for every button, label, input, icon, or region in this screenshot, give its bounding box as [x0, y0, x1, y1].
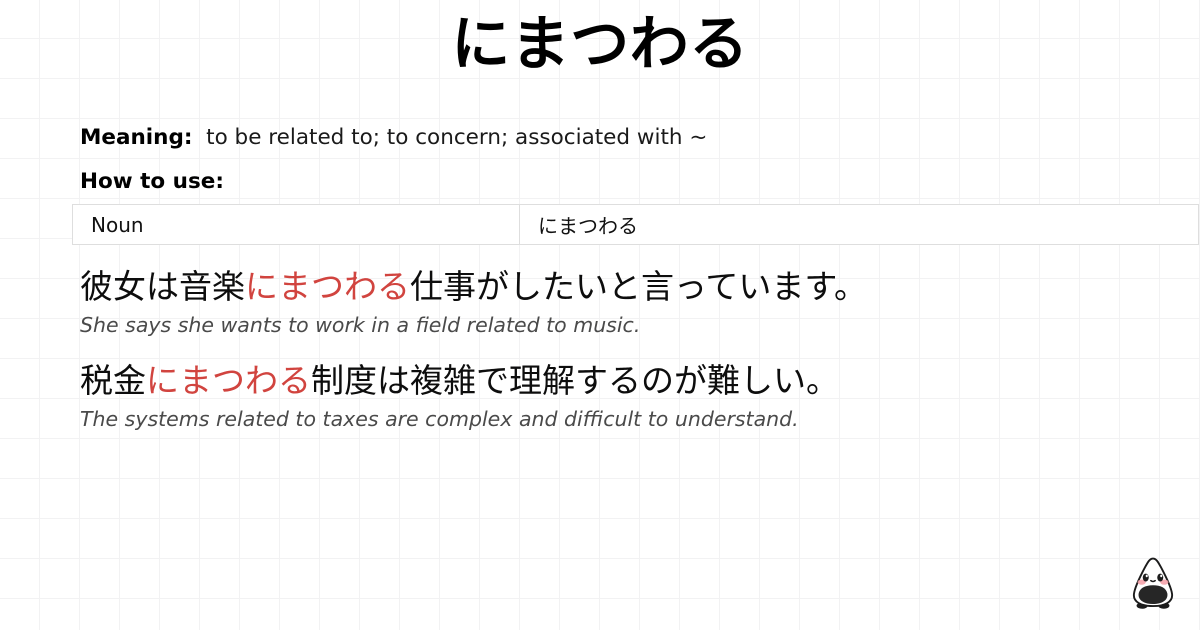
example-1-jp-before: 彼女は音楽	[80, 267, 245, 306]
example-1-jp-after: 仕事がしたいと言っています。	[410, 267, 867, 306]
meaning-row: Meaning: to be related to; to concern; a…	[80, 122, 1160, 154]
example-2-jp-highlight: にまつわる	[146, 361, 311, 400]
example-1-translation: She says she wants to work in a field re…	[80, 311, 1160, 341]
example-2-translation: The systems related to taxes are complex…	[80, 405, 1160, 435]
onigiri-icon	[1124, 554, 1182, 612]
table-cell-part-of-speech: Noun	[73, 205, 520, 245]
table-cell-pattern: にまつわる	[520, 205, 1199, 245]
example-2-japanese: 税金にまつわる制度は複雑で理解するのが難しい。	[80, 359, 1160, 403]
page-title: にまつわる	[0, 8, 1200, 80]
example-2-jp-after: 制度は複雑で理解するのが難しい。	[311, 361, 839, 400]
table-row: Noun にまつわる	[73, 205, 1199, 245]
usage-pattern-table: Noun にまつわる	[72, 204, 1199, 245]
example-1-jp-highlight: にまつわる	[245, 267, 410, 306]
meaning-label: Meaning:	[80, 125, 192, 150]
how-to-use-label: How to use:	[80, 168, 1160, 196]
example-1: 彼女は音楽にまつわる仕事がしたいと言っています。 She says she wa…	[80, 265, 1160, 341]
card-body: Meaning: to be related to; to concern; a…	[80, 122, 1160, 435]
meaning-text: to be related to; to concern; associated…	[206, 125, 707, 150]
example-2-jp-before: 税金	[80, 361, 146, 400]
grammar-card: にまつわる Meaning: to be related to; to conc…	[0, 0, 1200, 630]
example-2: 税金にまつわる制度は複雑で理解するのが難しい。 The systems rela…	[80, 359, 1160, 435]
example-1-japanese: 彼女は音楽にまつわる仕事がしたいと言っています。	[80, 265, 1160, 309]
